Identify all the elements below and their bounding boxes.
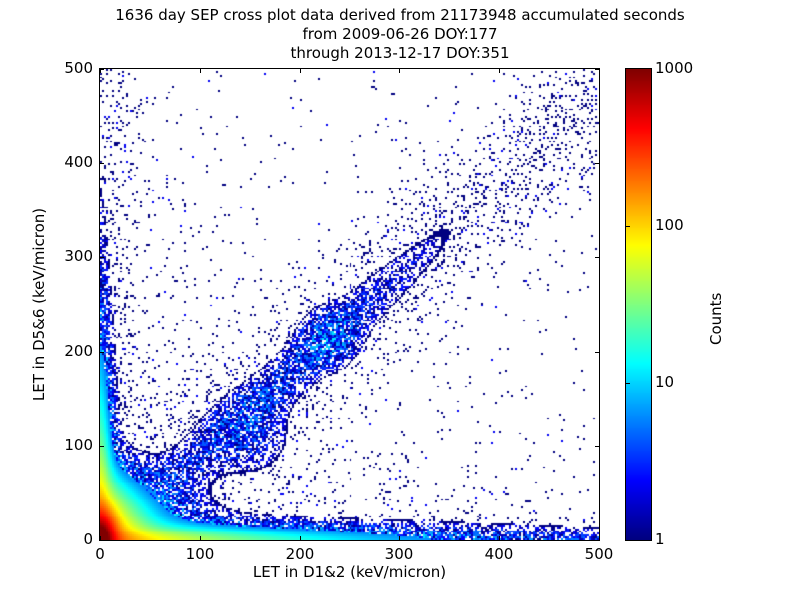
density-heatmap xyxy=(100,69,599,540)
y-axis-label: LET in D5&6 (keV/micron) xyxy=(30,68,48,541)
colorbar-tick-label: 10 xyxy=(655,373,674,391)
colorbar-tick-label: 100 xyxy=(655,216,684,234)
x-tick-mark xyxy=(499,536,500,540)
y-tick-mark-right xyxy=(595,446,599,447)
y-tick-mark xyxy=(100,446,104,447)
x-tick-mark xyxy=(399,536,400,540)
chart-title-line-1: 1636 day SEP cross plot data derived fro… xyxy=(0,6,800,25)
x-tick-label: 100 xyxy=(186,545,215,563)
x-axis-label: LET in D1&2 (keV/micron) xyxy=(99,563,600,581)
y-tick-mark-right xyxy=(595,257,599,258)
chart-title: 1636 day SEP cross plot data derived fro… xyxy=(0,6,800,63)
y-tick-mark-right xyxy=(595,163,599,164)
x-tick-label: 300 xyxy=(385,545,414,563)
colorbar-tick-label: 1 xyxy=(655,530,665,548)
x-tick-mark-top xyxy=(399,69,400,73)
x-tick-mark-top xyxy=(200,69,201,73)
colorbar-tick-mark xyxy=(626,383,630,384)
colorbar-gradient xyxy=(626,69,651,540)
colorbar xyxy=(625,68,652,541)
y-tick-label: 500 xyxy=(64,59,93,77)
x-tick-label: 400 xyxy=(485,545,514,563)
y-tick-mark xyxy=(100,257,104,258)
x-tick-mark-top xyxy=(100,69,101,73)
y-tick-mark xyxy=(100,540,104,541)
plot-axes-area xyxy=(99,68,600,541)
y-tick-label: 300 xyxy=(64,247,93,265)
x-tick-label: 500 xyxy=(585,545,614,563)
colorbar-label: Counts xyxy=(707,293,725,345)
x-tick-mark xyxy=(300,536,301,540)
y-tick-label: 200 xyxy=(64,342,93,360)
x-tick-mark xyxy=(200,536,201,540)
colorbar-tick-label: 1000 xyxy=(655,59,693,77)
x-tick-mark xyxy=(599,536,600,540)
x-tick-label: 0 xyxy=(95,545,105,563)
figure-canvas: 1636 day SEP cross plot data derived fro… xyxy=(0,0,800,600)
chart-title-line-2: from 2009-06-26 DOY:177 xyxy=(0,25,800,44)
y-tick-label: 100 xyxy=(64,436,93,454)
x-tick-mark-top xyxy=(300,69,301,73)
y-tick-mark xyxy=(100,163,104,164)
y-tick-mark xyxy=(100,352,104,353)
y-tick-mark-right xyxy=(595,540,599,541)
x-tick-mark-top xyxy=(599,69,600,73)
x-tick-label: 200 xyxy=(286,545,315,563)
y-tick-label: 0 xyxy=(83,530,93,548)
y-tick-mark-right xyxy=(595,352,599,353)
y-tick-label: 400 xyxy=(64,153,93,171)
x-tick-mark-top xyxy=(499,69,500,73)
x-tick-mark xyxy=(100,536,101,540)
colorbar-tick-mark xyxy=(626,226,630,227)
